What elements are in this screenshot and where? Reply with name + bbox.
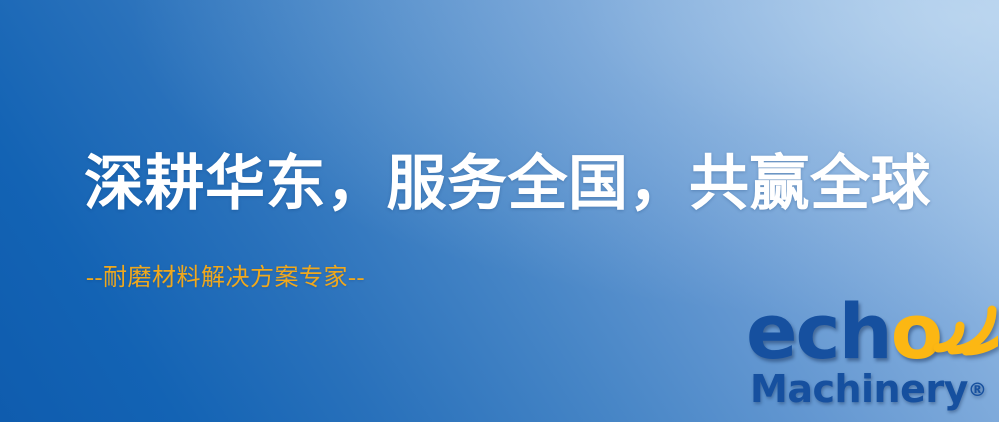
page-title: 深耕华东，服务全国，共赢全球 [84,152,931,217]
logo-brand-prefix: ech [746,287,891,376]
hero-banner: 深耕华东，服务全国，共赢全球 --耐磨材料解决方案专家-- echo Machi… [0,0,999,422]
signal-waves-icon [932,290,998,356]
banner-subtitle: --耐磨材料解决方案专家-- [86,264,365,293]
registered-trademark-icon: ® [968,379,987,401]
brand-logo[interactable]: echo Machinery® [746,294,996,420]
logo-tagline-text: Machinery [750,367,968,411]
logo-tagline-wrap: Machinery® [750,370,987,408]
logo-wordmark: echo [746,294,941,370]
